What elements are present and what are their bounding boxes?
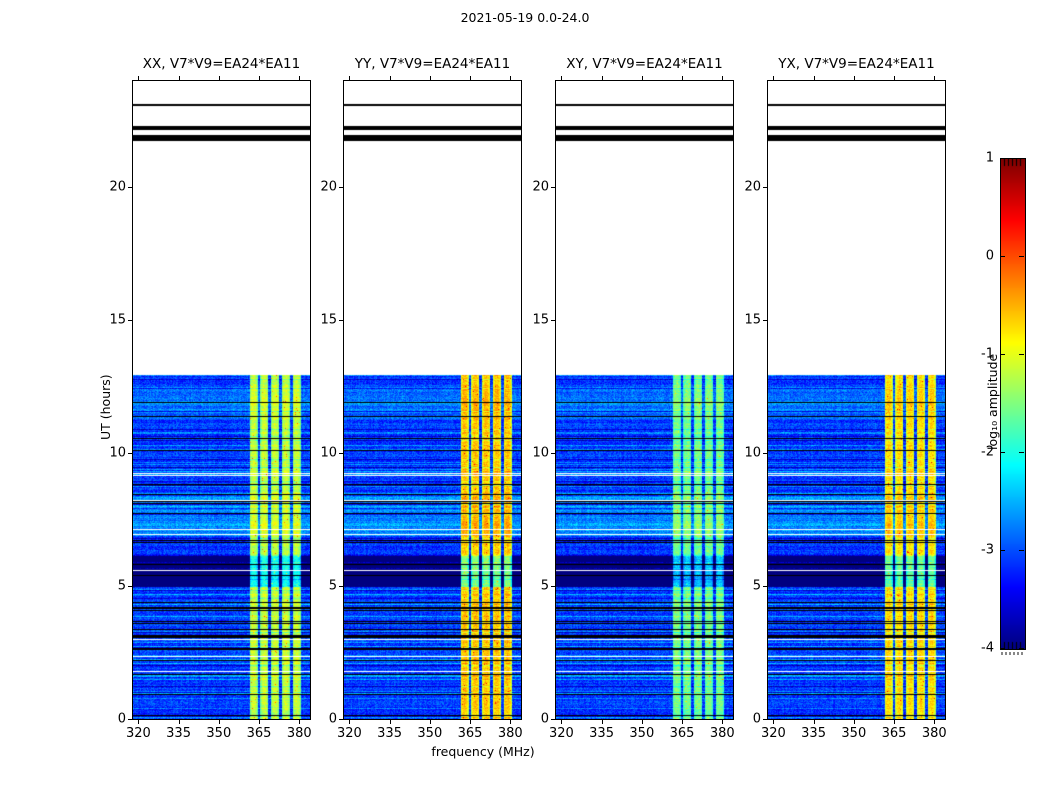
y-tick-label: 10 bbox=[521, 446, 549, 461]
colorbar-tick-label: -1 bbox=[958, 347, 994, 362]
x-tick-mark-top bbox=[773, 76, 774, 80]
x-tick-label: 350 bbox=[629, 726, 654, 741]
x-tick-mark bbox=[814, 720, 815, 724]
y-tick-mark bbox=[763, 586, 767, 587]
y-tick-mark bbox=[339, 719, 343, 720]
y-tick-mark bbox=[128, 719, 132, 720]
colorbar-tick-mark-right bbox=[1019, 256, 1024, 257]
colorbar-gradient bbox=[1001, 159, 1025, 649]
panel-xy[interactable]: XY, V7*V9=EA24*EA11 bbox=[555, 80, 734, 720]
y-tick-mark bbox=[339, 320, 343, 321]
figure-suptitle: 2021-05-19 0.0-24.0 bbox=[0, 10, 1050, 25]
x-tick-mark-top bbox=[349, 76, 350, 80]
colorbar-tick-mark bbox=[1000, 648, 1005, 649]
x-tick-mark bbox=[219, 720, 220, 724]
colorbar-tick-mark-right bbox=[1019, 452, 1024, 453]
x-tick-mark-top bbox=[682, 76, 683, 80]
x-tick-mark-top bbox=[561, 76, 562, 80]
y-tick-mark bbox=[128, 586, 132, 587]
x-tick-mark-top bbox=[430, 76, 431, 80]
colorbar-label: log₁₀ amplitude bbox=[985, 354, 1000, 450]
y-tick-label: 5 bbox=[521, 579, 549, 594]
panel-title-yx: YX, V7*V9=EA24*EA11 bbox=[767, 56, 946, 72]
y-tick-label: 5 bbox=[309, 579, 337, 594]
x-tick-label: 335 bbox=[166, 726, 191, 741]
colorbar-tick-label: 0 bbox=[958, 249, 994, 264]
x-tick-label: 365 bbox=[882, 726, 907, 741]
y-tick-mark bbox=[551, 187, 555, 188]
x-tick-mark-top bbox=[934, 76, 935, 80]
x-tick-label: 320 bbox=[337, 726, 362, 741]
x-tick-label: 380 bbox=[710, 726, 735, 741]
panel-plot-area-xy[interactable] bbox=[555, 80, 734, 720]
colorbar[interactable] bbox=[1000, 158, 1026, 650]
x-tick-label: 380 bbox=[922, 726, 947, 741]
y-axis-label: UT (hours) bbox=[98, 374, 113, 440]
x-tick-mark-top bbox=[814, 76, 815, 80]
panel-title-xy: XY, V7*V9=EA24*EA11 bbox=[555, 56, 734, 72]
x-tick-mark-top bbox=[179, 76, 180, 80]
colorbar-tick-mark bbox=[1000, 550, 1005, 551]
x-tick-mark bbox=[138, 720, 139, 724]
y-tick-mark bbox=[128, 453, 132, 454]
x-tick-mark bbox=[602, 720, 603, 724]
y-tick-label: 15 bbox=[309, 313, 337, 328]
x-tick-mark-top bbox=[390, 76, 391, 80]
panel-yx[interactable]: YX, V7*V9=EA24*EA11 bbox=[767, 80, 946, 720]
y-tick-mark bbox=[551, 453, 555, 454]
x-tick-mark-top bbox=[642, 76, 643, 80]
y-tick-label: 15 bbox=[521, 313, 549, 328]
colorbar-tick-label: -3 bbox=[958, 543, 994, 558]
x-tick-mark bbox=[934, 720, 935, 724]
waterfall-image-xy bbox=[556, 81, 733, 719]
y-tick-label: 0 bbox=[98, 712, 126, 727]
x-axis-label: frequency (MHz) bbox=[431, 744, 534, 759]
colorbar-tick-mark-right bbox=[1019, 354, 1024, 355]
colorbar-tick-label: 1 bbox=[958, 151, 994, 166]
panel-title-xx: XX, V7*V9=EA24*EA11 bbox=[132, 56, 311, 72]
colorbar-tick-label: -4 bbox=[958, 641, 994, 656]
x-tick-mark bbox=[773, 720, 774, 724]
x-tick-label: 365 bbox=[247, 726, 272, 741]
y-tick-label: 0 bbox=[521, 712, 549, 727]
colorbar-tick-mark bbox=[1000, 158, 1005, 159]
y-tick-mark bbox=[763, 453, 767, 454]
x-tick-mark bbox=[722, 720, 723, 724]
x-tick-mark bbox=[349, 720, 350, 724]
y-tick-label: 5 bbox=[733, 579, 761, 594]
x-tick-mark-top bbox=[510, 76, 511, 80]
x-tick-label: 350 bbox=[417, 726, 442, 741]
panel-plot-area-yy[interactable] bbox=[343, 80, 522, 720]
x-tick-label: 320 bbox=[761, 726, 786, 741]
y-tick-label: 20 bbox=[733, 180, 761, 195]
y-tick-label: 15 bbox=[98, 313, 126, 328]
panel-title-yy: YY, V7*V9=EA24*EA11 bbox=[343, 56, 522, 72]
y-tick-mark bbox=[763, 187, 767, 188]
y-tick-mark bbox=[763, 320, 767, 321]
colorbar-under-marker bbox=[1001, 652, 1023, 655]
y-tick-mark bbox=[339, 586, 343, 587]
y-tick-label: 20 bbox=[98, 180, 126, 195]
panel-plot-area-xx[interactable] bbox=[132, 80, 311, 720]
y-tick-label: 0 bbox=[309, 712, 337, 727]
waterfall-image-yy bbox=[344, 81, 521, 719]
x-tick-mark bbox=[430, 720, 431, 724]
waterfall-image-yx bbox=[768, 81, 945, 719]
x-tick-mark bbox=[642, 720, 643, 724]
x-tick-mark-top bbox=[219, 76, 220, 80]
colorbar-tick-mark bbox=[1000, 452, 1005, 453]
colorbar-tick-mark-right bbox=[1019, 648, 1024, 649]
x-tick-mark-top bbox=[259, 76, 260, 80]
x-tick-mark-top bbox=[894, 76, 895, 80]
x-tick-label: 350 bbox=[841, 726, 866, 741]
panel-yy[interactable]: YY, V7*V9=EA24*EA11 bbox=[343, 80, 522, 720]
x-tick-mark-top bbox=[722, 76, 723, 80]
y-tick-mark bbox=[551, 719, 555, 720]
x-tick-mark bbox=[299, 720, 300, 724]
colorbar-tick-label: -2 bbox=[958, 445, 994, 460]
figure-canvas: 2021-05-19 0.0-24.0 XX, V7*V9=EA24*EA11 … bbox=[0, 0, 1050, 800]
y-tick-mark bbox=[551, 320, 555, 321]
panel-plot-area-yx[interactable] bbox=[767, 80, 946, 720]
y-tick-label: 15 bbox=[733, 313, 761, 328]
y-tick-label: 0 bbox=[733, 712, 761, 727]
x-tick-label: 335 bbox=[801, 726, 826, 741]
y-tick-label: 5 bbox=[98, 579, 126, 594]
x-tick-mark bbox=[510, 720, 511, 724]
y-tick-label: 10 bbox=[98, 446, 126, 461]
x-tick-label: 380 bbox=[498, 726, 523, 741]
x-tick-mark-top bbox=[602, 76, 603, 80]
y-tick-label: 10 bbox=[733, 446, 761, 461]
x-tick-mark bbox=[179, 720, 180, 724]
x-tick-label: 380 bbox=[287, 726, 312, 741]
x-tick-mark bbox=[259, 720, 260, 724]
y-tick-mark bbox=[128, 320, 132, 321]
x-tick-mark bbox=[894, 720, 895, 724]
y-tick-label: 10 bbox=[309, 446, 337, 461]
y-tick-mark bbox=[763, 719, 767, 720]
y-tick-mark bbox=[551, 586, 555, 587]
x-tick-mark bbox=[390, 720, 391, 724]
colorbar-tick-mark-right bbox=[1019, 158, 1024, 159]
waterfall-image-xx bbox=[133, 81, 310, 719]
colorbar-tick-mark bbox=[1000, 256, 1005, 257]
x-tick-mark-top bbox=[470, 76, 471, 80]
y-tick-mark bbox=[339, 453, 343, 454]
colorbar-tick-mark-right bbox=[1019, 550, 1024, 551]
x-tick-mark bbox=[470, 720, 471, 724]
y-tick-label: 20 bbox=[309, 180, 337, 195]
x-tick-mark bbox=[561, 720, 562, 724]
y-tick-label: 20 bbox=[521, 180, 549, 195]
x-tick-mark-top bbox=[299, 76, 300, 80]
panel-xx[interactable]: XX, V7*V9=EA24*EA11 bbox=[132, 80, 311, 720]
colorbar-tick-mark bbox=[1000, 354, 1005, 355]
y-tick-mark bbox=[128, 187, 132, 188]
x-tick-label: 350 bbox=[206, 726, 231, 741]
x-tick-label: 320 bbox=[549, 726, 574, 741]
x-tick-label: 365 bbox=[458, 726, 483, 741]
x-tick-label: 320 bbox=[126, 726, 151, 741]
x-tick-mark bbox=[854, 720, 855, 724]
x-tick-mark-top bbox=[138, 76, 139, 80]
x-tick-label: 365 bbox=[670, 726, 695, 741]
y-tick-mark bbox=[339, 187, 343, 188]
x-tick-label: 335 bbox=[589, 726, 614, 741]
x-tick-mark-top bbox=[854, 76, 855, 80]
x-tick-mark bbox=[682, 720, 683, 724]
x-tick-label: 335 bbox=[377, 726, 402, 741]
